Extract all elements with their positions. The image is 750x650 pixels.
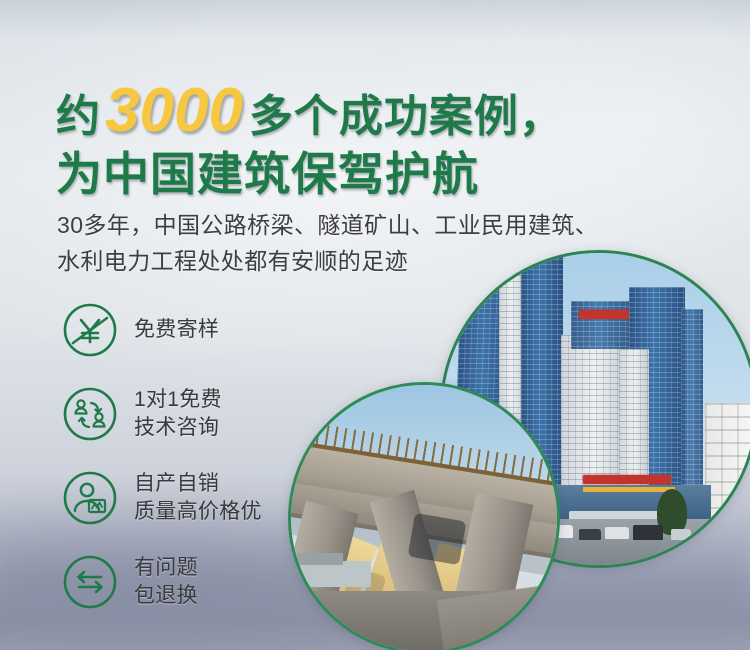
feature-label: 1对1免费 技术咨询 <box>134 386 222 441</box>
subheading-line-1: 30多年，中国公路桥梁、隧道矿山、工业民用建筑、 <box>57 208 598 244</box>
feature-item-free-sample: 免费寄样 <box>60 298 262 362</box>
feature-text-line-1: 有问题 <box>134 556 198 579</box>
headline-number: 3000 <box>101 80 249 142</box>
feature-text-line-1: 1对1免费 <box>134 388 222 411</box>
facade-sign-gold <box>583 487 675 492</box>
feature-label: 免费寄样 <box>134 316 219 344</box>
person-chart-icon <box>60 468 120 528</box>
headline-suffix: 多个成功案例， <box>249 95 564 139</box>
feature-text-line-2: 技术咨询 <box>134 416 219 439</box>
rooftop-sign-red <box>579 310 633 319</box>
white-building-right <box>705 403 750 533</box>
car <box>671 529 691 540</box>
bridge-photo-scene <box>291 385 557 650</box>
void-shadow <box>408 513 467 565</box>
car <box>579 529 601 540</box>
promo-banner: 约 3000 多个成功案例， 为中国建筑保驾护航 30多年，中国公路桥梁、隧道矿… <box>0 0 750 650</box>
feature-item-consultation: 1对1免费 技术咨询 <box>60 382 262 446</box>
car <box>605 527 629 539</box>
feature-item-return-exchange: 有问题 包退换 <box>60 550 262 614</box>
exchange-arrows-icon <box>60 552 120 612</box>
car <box>633 525 663 540</box>
feature-text-line-1: 自产自销 <box>134 472 219 495</box>
facade-sign-red <box>583 475 671 484</box>
distant-structure <box>297 553 343 565</box>
headline-prefix: 约 <box>56 95 101 139</box>
bridge-photo <box>288 382 560 650</box>
feature-label: 自产自销 质量高价格优 <box>134 470 262 525</box>
feature-text-line-2: 包退换 <box>134 584 198 607</box>
headline-line-1: 约 3000 多个成功案例， <box>56 80 564 142</box>
feature-label: 有问题 包退换 <box>134 554 198 609</box>
headline-line-2: 为中国建筑保驾护航 <box>56 150 564 198</box>
feature-list: 免费寄样 1对1免费 技术咨询 <box>60 298 262 634</box>
one-to-one-people-icon <box>60 384 120 444</box>
headline: 约 3000 多个成功案例， 为中国建筑保驾护航 <box>56 80 564 198</box>
feature-item-self-production: 自产自销 质量高价格优 <box>60 466 262 530</box>
tower-center-top <box>571 301 633 349</box>
feature-text-line-1: 免费寄样 <box>134 318 219 341</box>
feature-text-line-2: 质量高价格优 <box>134 500 262 523</box>
no-fee-yuan-icon <box>60 300 120 360</box>
